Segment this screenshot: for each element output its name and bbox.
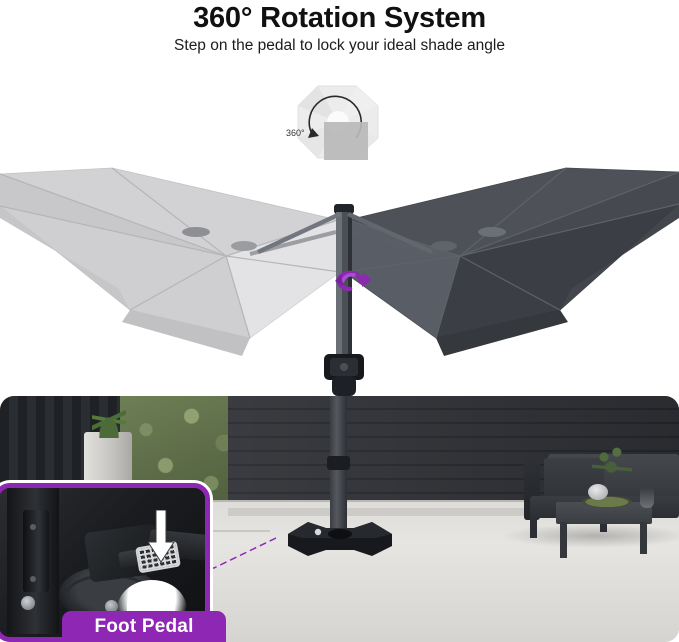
foot-pedal-badge-label: Foot Pedal — [94, 617, 193, 637]
rotation-lock-bolt — [340, 363, 348, 371]
rotation-diagram: 360° — [286, 76, 396, 168]
rotate-arrow-icon — [331, 266, 373, 296]
page-title: 360° Rotation System — [0, 0, 679, 34]
right-canopy-hub — [478, 227, 506, 237]
right-umbrella-group — [344, 168, 679, 356]
inset-screw-left — [21, 596, 35, 610]
left-canopy-hub — [182, 227, 210, 237]
left-canopy-hub2 — [231, 241, 257, 251]
inset-bracket-bolt-bottom — [30, 576, 36, 582]
foot-pedal-badge: Foot Pedal — [62, 611, 226, 642]
rotating-shade-square — [324, 122, 368, 164]
right-canopy-hub2 — [431, 241, 457, 251]
left-umbrella-group — [0, 168, 340, 356]
press-down-arrow-icon — [147, 510, 175, 566]
inset-bracket-bolt-top — [30, 524, 36, 530]
header: 360° Rotation System Step on the pedal t… — [0, 0, 679, 70]
rotation-collar — [332, 376, 356, 396]
rotation-angle-label: 360° — [286, 128, 305, 138]
inset-bracket — [23, 510, 49, 592]
page-subtitle: Step on the pedal to lock your ideal sha… — [0, 36, 679, 56]
